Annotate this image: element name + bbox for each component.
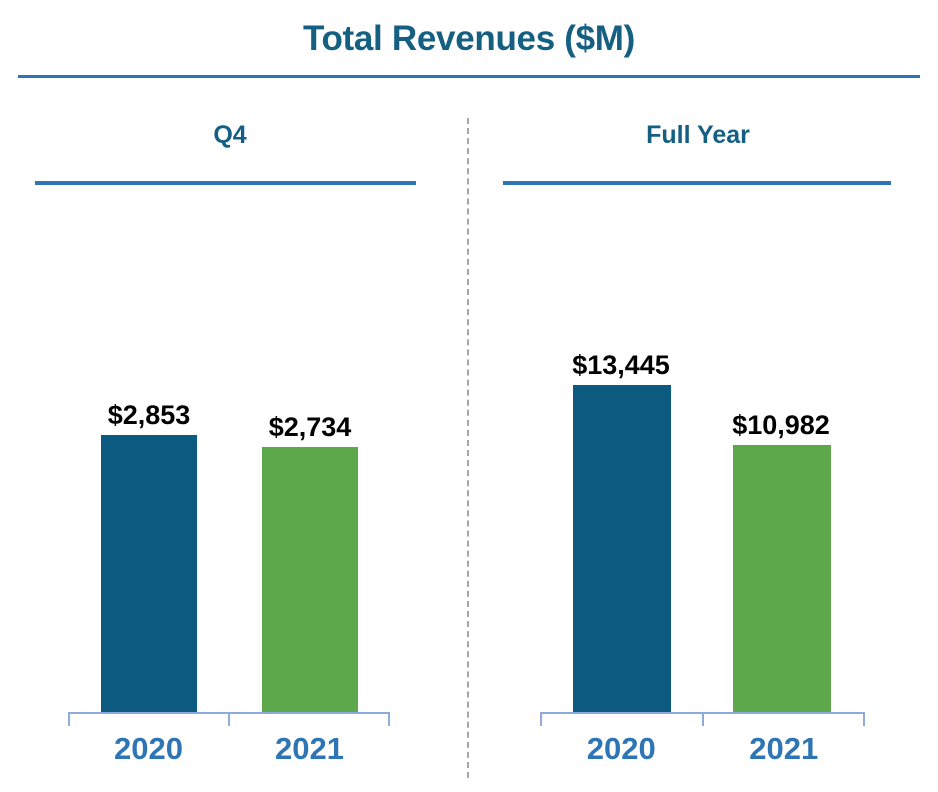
panel-full-year: Full Year $13,445 $10,982 2020 2021 [488, 118, 908, 778]
title-divider-rule [18, 75, 920, 78]
panel-separator-dashed [467, 118, 469, 778]
bar-q4-2021[interactable] [262, 447, 358, 712]
x-axis-tick-start [68, 712, 70, 726]
bar-value-label-fy-2020: $13,445 [533, 349, 709, 381]
bar-value-label-fy-2021: $10,982 [693, 409, 869, 441]
panel-full-year-x-axis [540, 712, 865, 726]
bar-fy-2020[interactable] [573, 385, 671, 712]
panel-q4: Q4 $2,853 $2,734 2020 2021 [20, 118, 440, 778]
panel-full-year-plot-area: $13,445 $10,982 2020 2021 [488, 118, 908, 712]
slide-root: Total Revenues ($M) Q4 $2,853 $2,734 202 [0, 0, 938, 792]
bar-fy-2021[interactable] [733, 445, 831, 712]
bar-q4-2020[interactable] [101, 435, 197, 712]
x-axis-tick-start [540, 712, 542, 726]
x-axis-tick-mid [228, 712, 230, 726]
x-axis-tick-end [388, 712, 390, 726]
x-label-q4-2020: 2020 [68, 730, 229, 768]
bar-value-label-q4-2020: $2,853 [61, 399, 237, 431]
x-label-fy-2020: 2020 [540, 730, 703, 768]
x-label-fy-2021: 2021 [703, 730, 866, 768]
panel-q4-category-labels: 2020 2021 [68, 730, 390, 768]
panel-q4-x-axis [68, 712, 390, 726]
x-label-q4-2021: 2021 [229, 730, 390, 768]
bar-value-label-q4-2021: $2,734 [222, 411, 398, 443]
x-axis-tick-end [863, 712, 865, 726]
panel-full-year-category-labels: 2020 2021 [540, 730, 865, 768]
panel-q4-plot-area: $2,853 $2,734 2020 2021 [20, 118, 440, 712]
x-axis-tick-mid [702, 712, 704, 726]
page-title: Total Revenues ($M) [0, 18, 938, 60]
